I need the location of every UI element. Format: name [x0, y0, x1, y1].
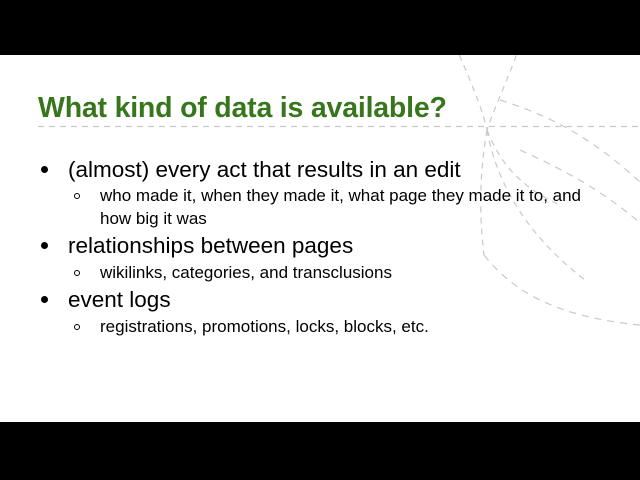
list-item: who made it, when they made it, what pag… [0, 185, 600, 230]
list-item-label: registrations, promotions, locks, blocks… [100, 316, 600, 339]
list-item: wikilinks, categories, and transclusions [0, 262, 600, 285]
list-item-label: (almost) every act that results in an ed… [68, 155, 600, 184]
circle-bullet-icon [74, 270, 80, 276]
list-item-label: event logs [68, 285, 600, 314]
list-item: relationships between pages [0, 231, 600, 260]
list-item: event logs [0, 285, 600, 314]
page-title: What kind of data is available? [38, 94, 447, 124]
letterbox-bar-bottom [0, 422, 640, 480]
video-frame: What kind of data is available? (almost)… [0, 0, 640, 480]
circle-bullet-icon [74, 324, 80, 330]
circle-bullet-icon [74, 193, 80, 199]
list-item-label: relationships between pages [68, 231, 600, 260]
letterbox-bar-top [0, 0, 640, 55]
bullet-list: (almost) every act that results in an ed… [0, 155, 600, 339]
list-item-label: wikilinks, categories, and transclusions [100, 262, 600, 285]
list-item-label: who made it, when they made it, what pag… [100, 185, 600, 230]
disc-bullet-icon [41, 242, 48, 249]
list-item: (almost) every act that results in an ed… [0, 155, 600, 184]
list-item: registrations, promotions, locks, blocks… [0, 316, 600, 339]
disc-bullet-icon [41, 166, 48, 173]
presentation-slide: What kind of data is available? (almost)… [0, 55, 640, 422]
disc-bullet-icon [41, 296, 48, 303]
